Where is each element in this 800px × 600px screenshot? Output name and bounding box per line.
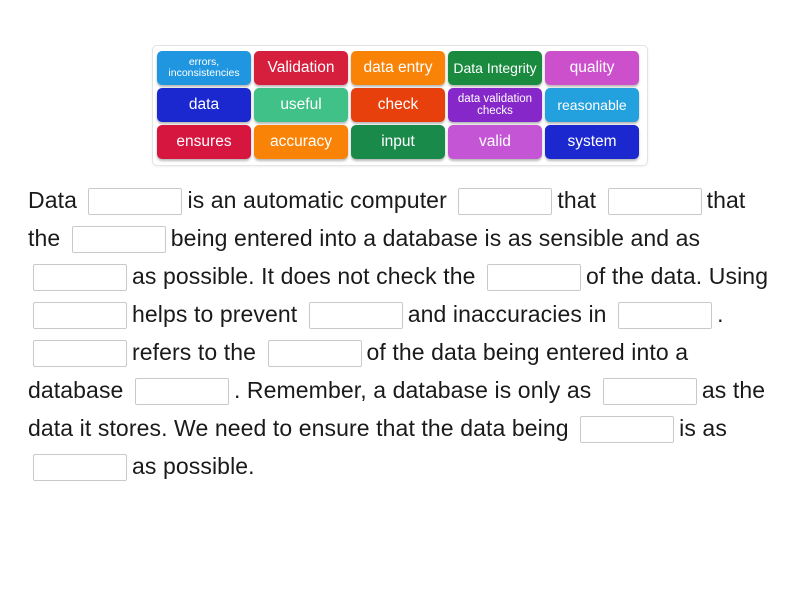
word-tile[interactable]: Validation <box>254 51 348 85</box>
word-tile[interactable]: ensures <box>157 125 251 159</box>
word-tile[interactable]: data validation checks <box>448 88 542 122</box>
cloze-blank[interactable] <box>618 302 712 329</box>
cloze-blank[interactable] <box>33 340 127 367</box>
word-bank-row: errors, inconsistenciesValidationdata en… <box>157 51 643 85</box>
cloze-exercise-page: errors, inconsistenciesValidationdata en… <box>0 0 800 600</box>
cloze-blank[interactable] <box>33 454 127 481</box>
word-tile[interactable]: quality <box>545 51 639 85</box>
cloze-blank[interactable] <box>603 378 697 405</box>
word-bank: errors, inconsistenciesValidationdata en… <box>152 45 648 166</box>
cloze-blank[interactable] <box>458 188 552 215</box>
word-tile[interactable]: data <box>157 88 251 122</box>
cloze-text: . Remember, a database is only as <box>234 377 591 403</box>
word-tile[interactable]: data entry <box>351 51 445 85</box>
cloze-blank[interactable] <box>33 264 127 291</box>
cloze-text: is an automatic computer <box>187 187 446 213</box>
cloze-blank[interactable] <box>309 302 403 329</box>
word-tile[interactable]: input <box>351 125 445 159</box>
cloze-text: as possible. <box>132 453 255 479</box>
word-tile[interactable]: errors, inconsistencies <box>157 51 251 85</box>
word-bank-row: ensuresaccuracyinputvalidsystem <box>157 125 643 159</box>
cloze-text: of the data. Using <box>586 263 768 289</box>
cloze-blank[interactable] <box>580 416 674 443</box>
cloze-blank[interactable] <box>608 188 702 215</box>
cloze-text: that <box>557 187 596 213</box>
cloze-paragraph: Data is an automatic computer that that … <box>28 181 780 485</box>
word-tile[interactable]: system <box>545 125 639 159</box>
word-tile[interactable]: useful <box>254 88 348 122</box>
word-tile[interactable]: Data Integrity <box>448 51 542 85</box>
word-tile[interactable]: accuracy <box>254 125 348 159</box>
cloze-blank[interactable] <box>487 264 581 291</box>
cloze-text: helps to prevent <box>132 301 297 327</box>
cloze-blank[interactable] <box>268 340 362 367</box>
word-tile[interactable]: check <box>351 88 445 122</box>
cloze-blank[interactable] <box>88 188 182 215</box>
cloze-text: Data <box>28 187 77 213</box>
cloze-blank[interactable] <box>135 378 229 405</box>
word-bank-row: datausefulcheckdata validation checksrea… <box>157 88 643 122</box>
cloze-text: is as <box>679 415 727 441</box>
cloze-text: and inaccuracies in <box>408 301 607 327</box>
cloze-text: refers to the <box>132 339 256 365</box>
cloze-blank[interactable] <box>33 302 127 329</box>
word-tile[interactable]: valid <box>448 125 542 159</box>
word-tile[interactable]: reasonable <box>545 88 639 122</box>
cloze-blank[interactable] <box>72 226 166 253</box>
cloze-text: being entered into a database is as sens… <box>171 225 700 251</box>
cloze-text: as possible. It does not check the <box>132 263 476 289</box>
cloze-text: . <box>717 301 724 327</box>
